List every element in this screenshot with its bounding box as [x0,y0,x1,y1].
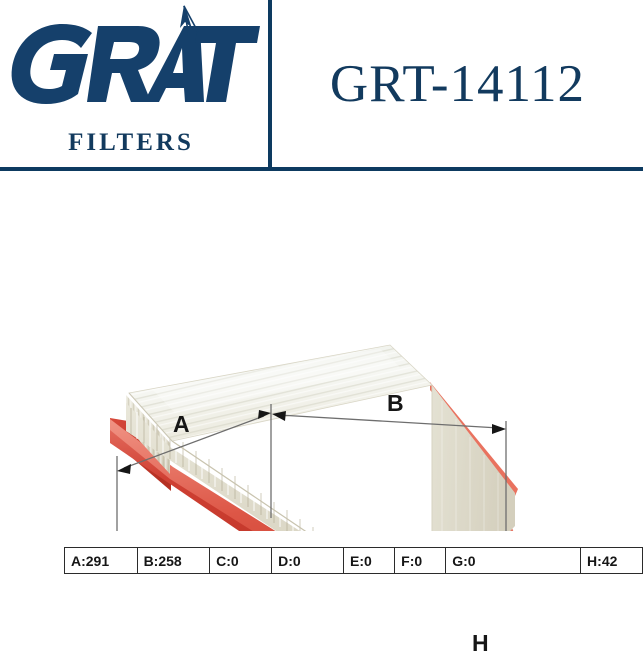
dimension-label-a: A [173,413,190,436]
dimension-table: A:291 B:258 C:0 D:0 E:0 F:0 G:0 H:42 [64,547,643,574]
dimension-cell-d: D:0 [272,548,344,574]
grat-wordmark-icon [8,2,260,127]
page-header: FILTERS GRT-14112 [0,0,643,171]
dimension-cell-a: A:291 [65,548,138,574]
brand-subtitle: FILTERS [0,130,262,155]
media-right-wall-main [419,387,513,531]
dimension-cell-c: C:0 [210,548,272,574]
table-row: A:291 B:258 C:0 D:0 E:0 F:0 G:0 H:42 [65,548,643,574]
filter-element [100,331,518,531]
product-figure: A B H [0,171,643,531]
dimension-label-h: H [472,632,489,655]
dimension-cell-f: F:0 [395,548,446,574]
dimension-cell-b: B:258 [137,548,210,574]
part-number-panel: GRT-14112 [272,0,643,167]
filter-illustration [0,171,643,531]
dimension-label-b: B [387,392,404,415]
dimension-cell-e: E:0 [344,548,395,574]
brand-logo: FILTERS [0,0,268,167]
dimension-cell-h: H:42 [581,548,643,574]
dimension-cell-g: G:0 [446,548,581,574]
part-number: GRT-14112 [330,54,585,114]
